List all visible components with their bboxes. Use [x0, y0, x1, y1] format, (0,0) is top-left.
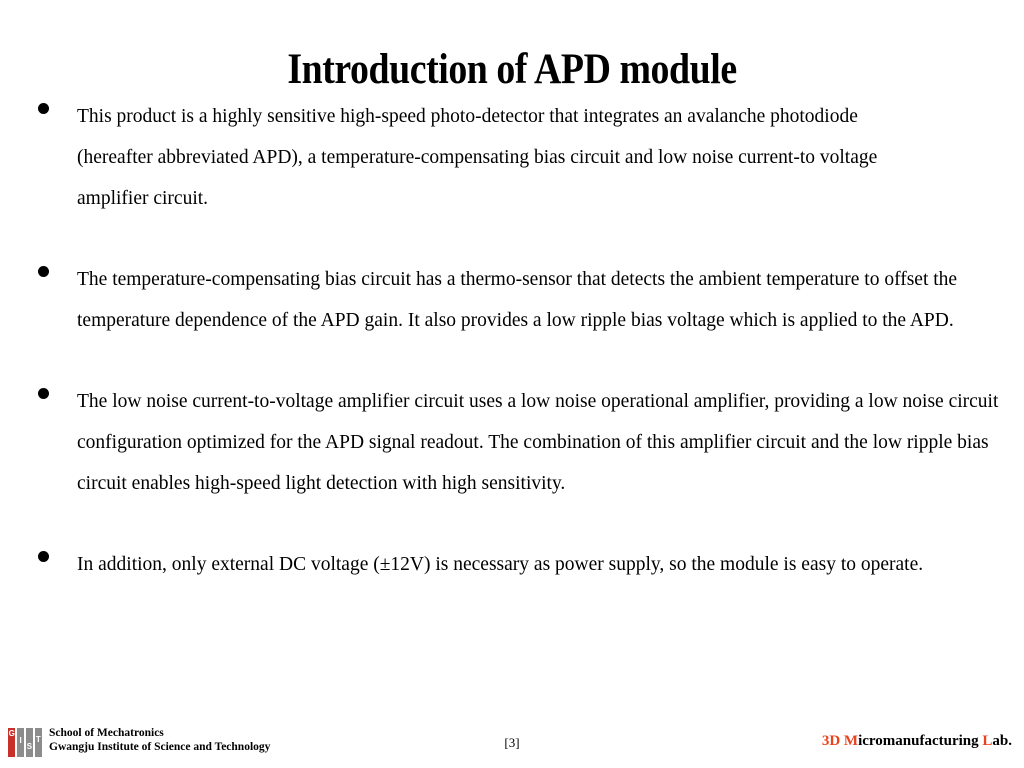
lab-name-part-3d: 3D [822, 733, 844, 749]
lab-name-part-icromanufacturing: icromanufacturing [858, 733, 982, 749]
lab-name-part-l: L [982, 733, 992, 749]
slide-canvas: Introduction of APD module This product … [0, 0, 1024, 768]
list-item: The temperature-compensating bias circui… [38, 259, 998, 341]
list-item-text: This product is a highly sensitive high-… [77, 96, 912, 219]
list-item: In addition, only external DC voltage (±… [38, 544, 998, 585]
list-item: The low noise current-to-voltage amplifi… [38, 381, 998, 504]
slide-footer: G I S T School of Mechatronics Gwangju I… [0, 722, 1024, 768]
lab-name: 3D Micromanufacturing Lab. [822, 732, 1012, 750]
bullet-list: This product is a highly sensitive high-… [38, 96, 998, 585]
list-item-text: In addition, only external DC voltage (±… [77, 544, 982, 585]
lab-name-part-m: M [844, 733, 858, 749]
bullet-point-icon [38, 551, 49, 562]
list-item-text: The temperature-compensating bias circui… [77, 259, 972, 341]
list-item: This product is a highly sensitive high-… [38, 96, 998, 219]
list-item-text: The low noise current-to-voltage amplifi… [77, 381, 999, 504]
bullet-point-icon [38, 388, 49, 399]
lab-name-part-ab: ab. [992, 733, 1012, 749]
page-title: Introduction of APD module [61, 45, 962, 95]
bullet-point-icon [38, 103, 49, 114]
bullet-point-icon [38, 266, 49, 277]
